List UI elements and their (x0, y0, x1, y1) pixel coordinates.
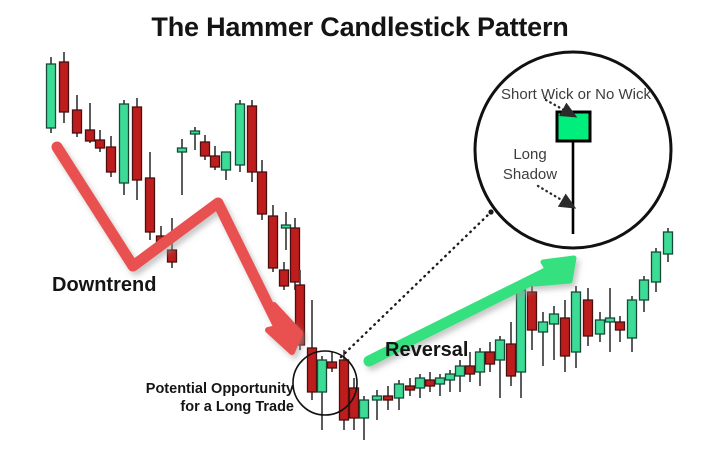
candle-body (486, 352, 495, 364)
hammer-candle-body (318, 360, 327, 392)
page-title: The Hammer Candlestick Pattern (0, 12, 720, 43)
candle-body (426, 380, 435, 386)
candle-body (640, 280, 649, 300)
connector-endpoint-dot (488, 209, 493, 214)
candle-body (561, 318, 570, 356)
candle-body (60, 62, 69, 112)
potential-opportunity-label: Potential Opportunity for a Long Trade (98, 380, 294, 416)
candle-body (211, 156, 220, 167)
candle-body (258, 172, 267, 214)
candle-body (517, 290, 526, 372)
candle-body (201, 142, 210, 156)
candle-body (572, 292, 581, 352)
candle-body (664, 232, 673, 254)
downtrend-label: Downtrend (52, 274, 156, 297)
candle-body (384, 396, 393, 400)
candle-body (395, 384, 404, 398)
candle-body (456, 366, 465, 376)
candle-body (168, 250, 177, 262)
candle-body (73, 110, 82, 133)
long-shadow-label: Long Shadow (497, 145, 563, 185)
candle-body (120, 104, 129, 183)
reversal-label: Reversal (385, 339, 468, 362)
candle-body (248, 106, 257, 172)
candle-body (86, 130, 95, 141)
candle-body (96, 140, 105, 148)
candle-body (507, 344, 516, 376)
candle-body (291, 228, 300, 282)
candle-body (596, 320, 605, 334)
candle-body (360, 400, 369, 418)
candle-body (280, 270, 289, 286)
candle-body (133, 107, 142, 180)
candle-body (328, 362, 337, 368)
candle-body (178, 148, 187, 152)
candle-body (528, 292, 537, 330)
candle-body (107, 147, 116, 172)
candle-body (584, 300, 593, 336)
candle-body (222, 152, 231, 170)
candle-body (446, 374, 455, 380)
candle-body (269, 216, 278, 268)
candle-body (606, 318, 615, 322)
candle-body (406, 386, 415, 390)
candle-body (373, 396, 382, 400)
zoom-candle-body (557, 112, 590, 141)
candle-body (628, 300, 637, 338)
candle-body (466, 366, 475, 374)
candle-body (416, 378, 425, 388)
candle-body (282, 225, 291, 228)
short-wick-label: Short Wick or No Wick (501, 86, 651, 103)
candle-body (652, 252, 661, 282)
candle-body (496, 340, 505, 360)
candle-body (539, 322, 548, 332)
candle-body (550, 314, 559, 324)
candle-body (476, 352, 485, 372)
candle-body (616, 322, 625, 330)
candle-body (436, 378, 445, 384)
hammer-pattern-infographic: The Hammer Candlestick Pattern Downtrend… (0, 0, 720, 467)
candle-body (47, 64, 56, 128)
candle-body (146, 178, 155, 232)
candle-body (236, 104, 245, 165)
candle-body (191, 131, 200, 134)
